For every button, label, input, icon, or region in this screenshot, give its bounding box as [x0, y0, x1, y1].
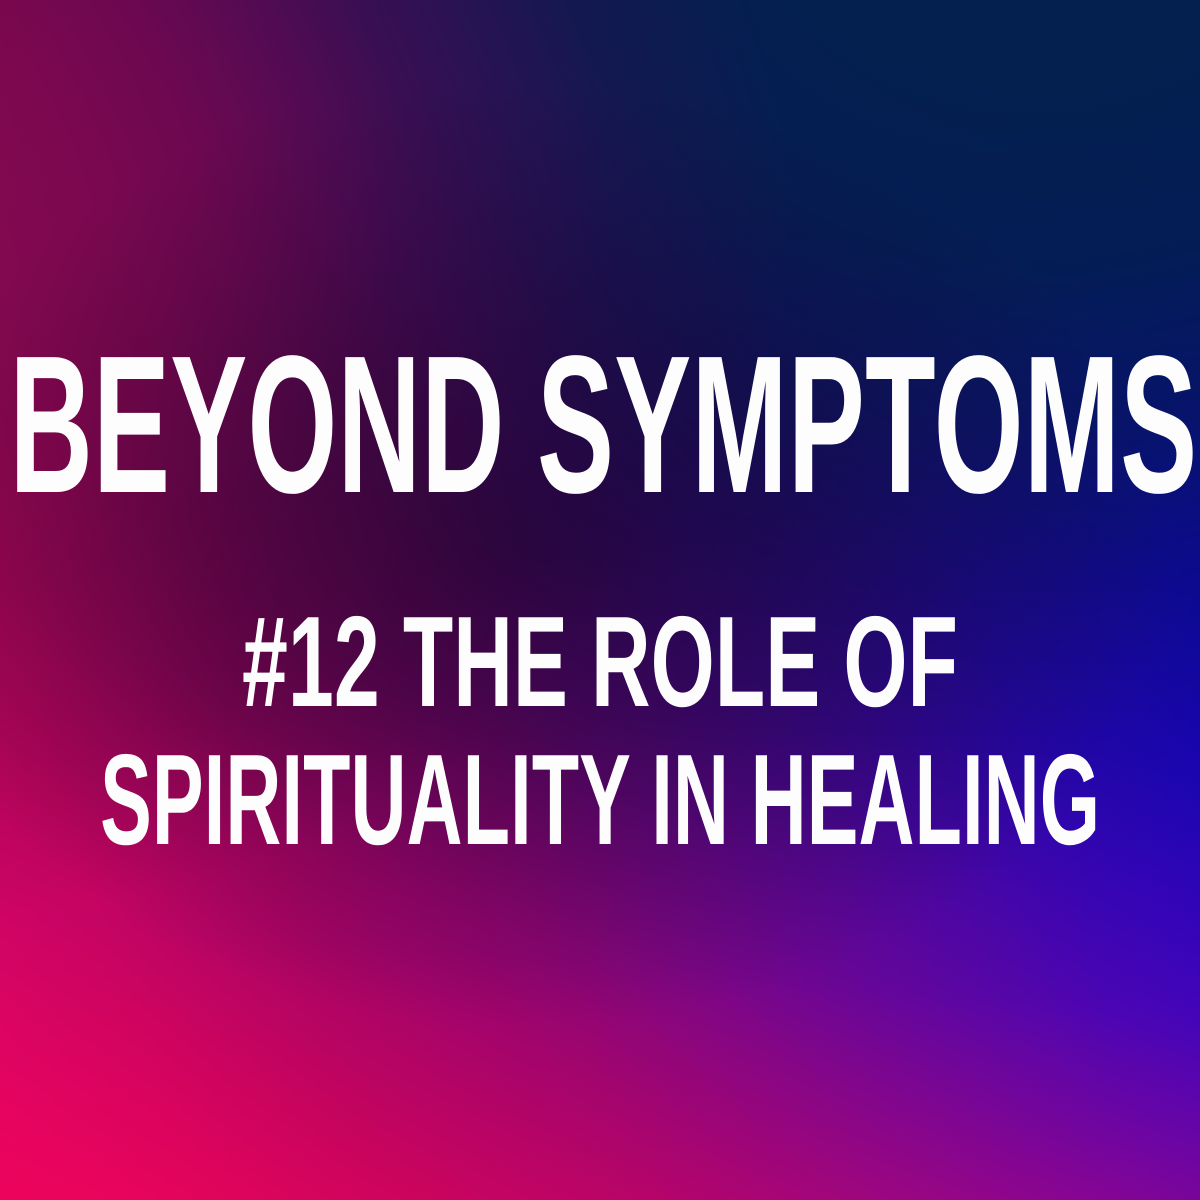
title-card-poster: BEYOND SYMPTOMS #12 THE ROLE OF SPIRITUA…	[0, 0, 1200, 1200]
poster-subtitle-block: #12 THE ROLE OF SPIRITUALITY IN HEALING	[0, 615, 1200, 848]
poster-content: BEYOND SYMPTOMS #12 THE ROLE OF SPIRITUA…	[0, 0, 1200, 1200]
poster-subtitle-line-2: SPIRITUALITY IN HEALING	[100, 753, 1100, 848]
poster-headline: BEYOND SYMPTOMS	[9, 352, 1191, 497]
poster-subtitle-line-1: #12 THE ROLE OF	[242, 615, 958, 710]
